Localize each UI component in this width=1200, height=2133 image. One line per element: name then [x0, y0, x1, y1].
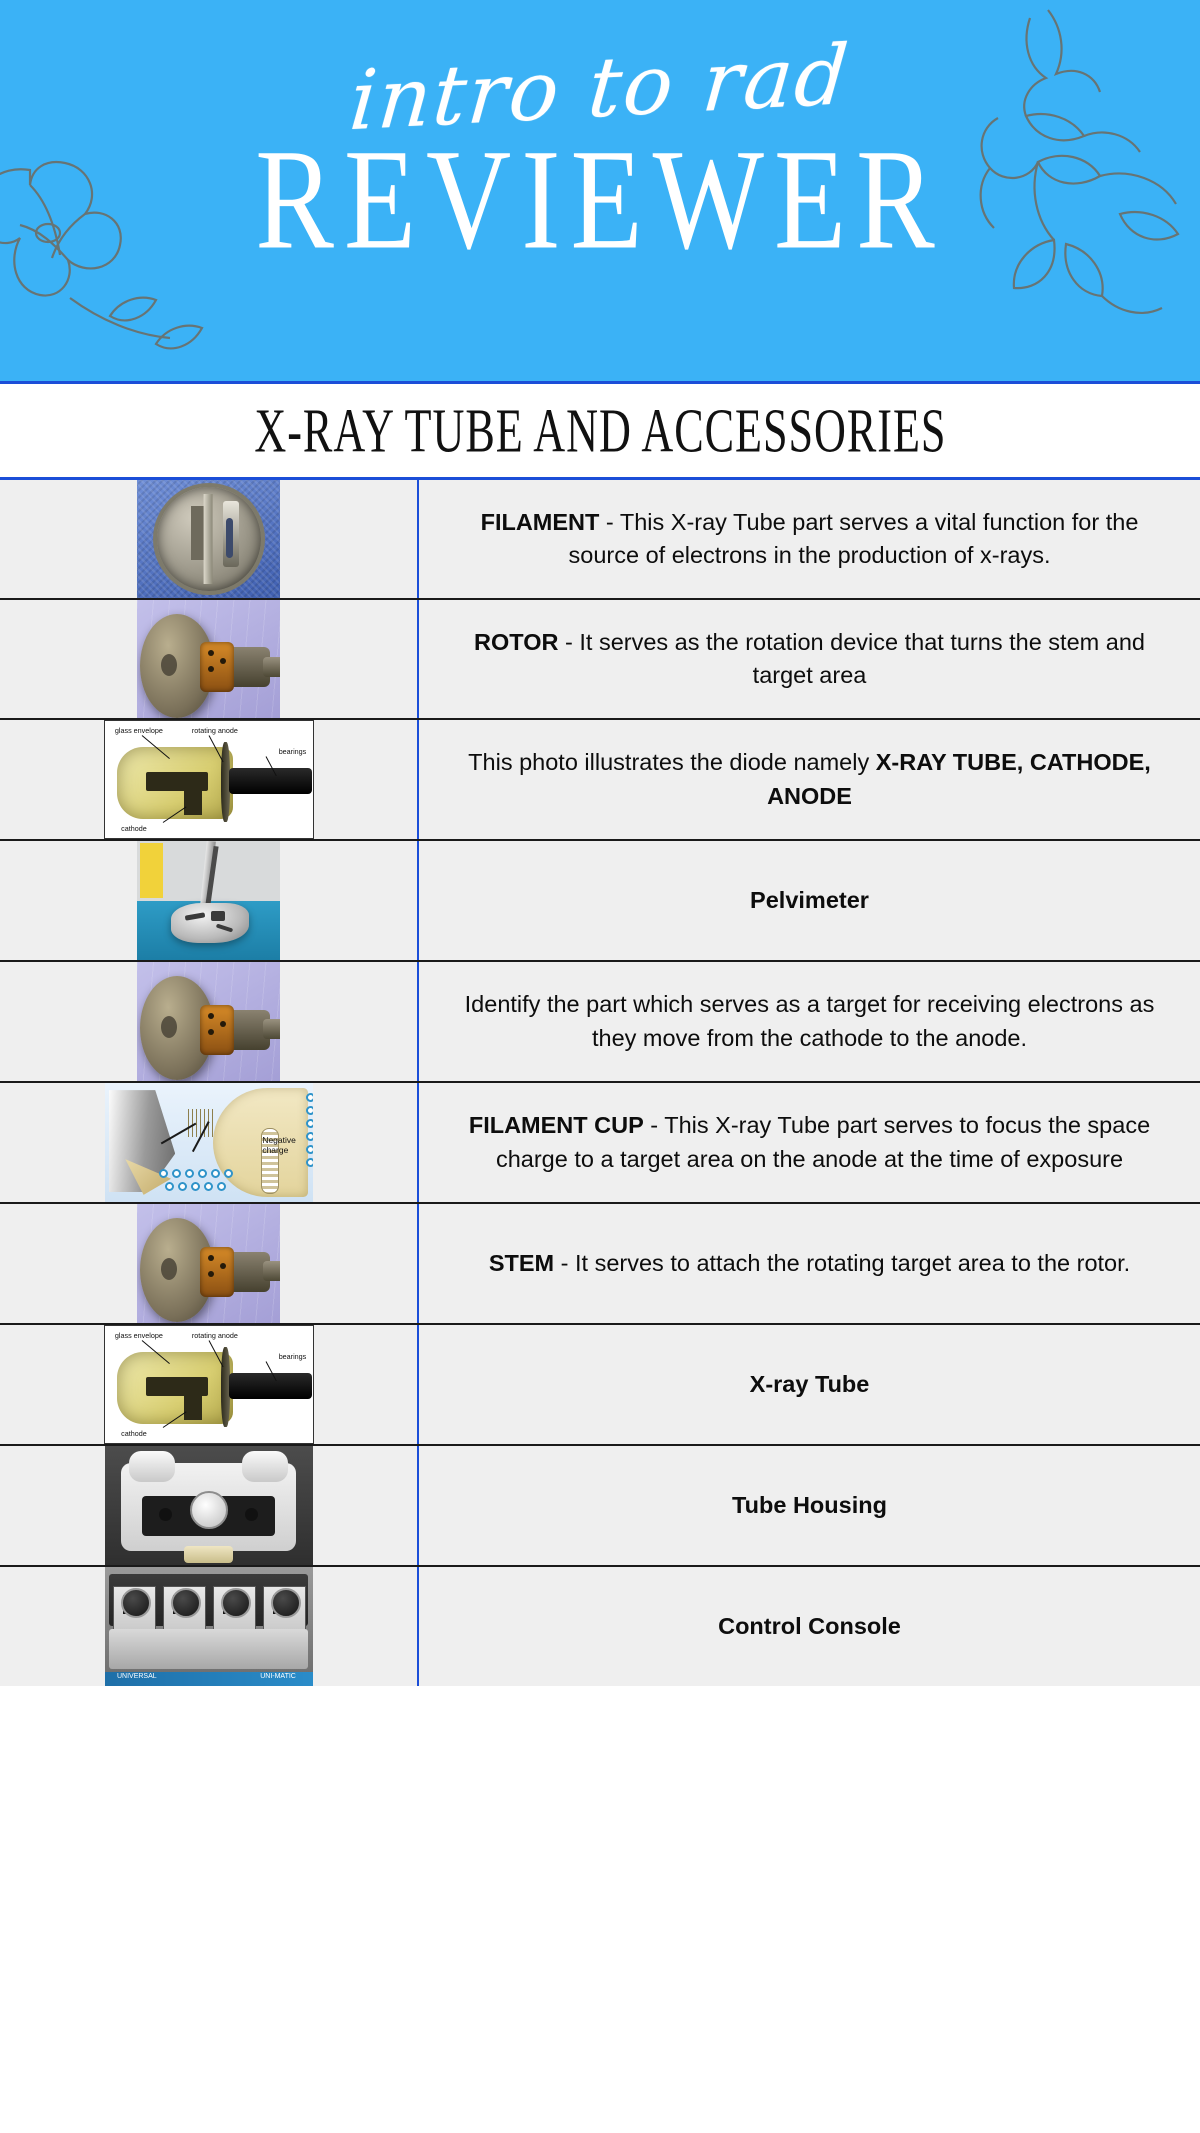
row-image-cell [0, 841, 419, 960]
row-text: X-ray Tube [750, 1368, 870, 1401]
row-text-cell: Identify the part which serves as a targ… [419, 962, 1200, 1081]
label-bearings: bearings [279, 747, 307, 756]
console-model-label: UNI-MATIC [260, 1673, 296, 1680]
row-image-cell [0, 1204, 419, 1323]
label-glass-envelope: glass envelope [115, 726, 163, 735]
subtitle-band: X-RAY TUBE AND ACCESSORIES [0, 384, 1200, 480]
table-row: STEM - It serves to attach the rotating … [0, 1204, 1200, 1325]
rotor-photo [137, 1204, 280, 1323]
row-text-cell: STEM - It serves to attach the rotating … [419, 1204, 1200, 1323]
label-bearings: bearings [279, 1352, 307, 1361]
reviewer-table: FILAMENT - This X-ray Tube part serves a… [0, 480, 1200, 1686]
pelvimeter-photo [137, 841, 280, 960]
row-text-cell: Pelvimeter [419, 841, 1200, 960]
table-row: UNIVERSAL UNI-MATIC Control Console [0, 1567, 1200, 1686]
xray-tube-diagram: glass envelope rotating anode bearings c… [104, 720, 314, 839]
filament-photo [137, 480, 280, 598]
row-text-cell: X-ray Tube [419, 1325, 1200, 1444]
row-image-cell [0, 1446, 419, 1565]
table-row: FILAMENT - This X-ray Tube part serves a… [0, 480, 1200, 600]
label-rotating-anode: rotating anode [192, 1331, 238, 1340]
row-image-cell [0, 962, 419, 1081]
row-image-cell [0, 480, 419, 598]
console-brand-label: UNIVERSAL [117, 1673, 157, 1680]
row-image-cell [0, 600, 419, 718]
row-text: FILAMENT - This X-ray Tube part serves a… [461, 506, 1158, 573]
row-text-cell: FILAMENT - This X-ray Tube part serves a… [419, 480, 1200, 598]
row-text: Identify the part which serves as a targ… [461, 988, 1158, 1055]
table-row: glass envelope rotating anode bearings c… [0, 720, 1200, 841]
row-text: Tube Housing [732, 1489, 887, 1522]
control-console-photo: UNIVERSAL UNI-MATIC [105, 1567, 313, 1686]
row-text: STEM - It serves to attach the rotating … [489, 1247, 1130, 1280]
table-row: Negativecharge FILAMENT CUP - This X-ray… [0, 1083, 1200, 1204]
row-image-cell: UNIVERSAL UNI-MATIC [0, 1567, 419, 1686]
page-title: REVIEWER [255, 134, 945, 266]
row-text-cell: This photo illustrates the diode namely … [419, 720, 1200, 839]
table-row: Pelvimeter [0, 841, 1200, 962]
row-text: Pelvimeter [750, 884, 869, 917]
row-text: ROTOR - It serves as the rotation device… [461, 626, 1158, 693]
row-image-cell: Negativecharge [0, 1083, 419, 1202]
row-text-cell: FILAMENT CUP - This X-ray Tube part serv… [419, 1083, 1200, 1202]
label-negative-charge: Negativecharge [262, 1135, 296, 1155]
label-rotating-anode: rotating anode [192, 726, 238, 735]
row-text-cell: ROTOR - It serves as the rotation device… [419, 600, 1200, 718]
label-glass-envelope: glass envelope [115, 1331, 163, 1340]
row-image-cell: glass envelope rotating anode bearings c… [0, 1325, 419, 1444]
label-cathode: cathode [121, 824, 147, 833]
table-row: glass envelope rotating anode bearings c… [0, 1325, 1200, 1446]
rotor-photo [137, 600, 280, 718]
table-row: Identify the part which serves as a targ… [0, 962, 1200, 1083]
row-text: FILAMENT CUP - This X-ray Tube part serv… [461, 1109, 1158, 1176]
row-text: This photo illustrates the diode namely … [461, 746, 1158, 813]
rotor-photo [137, 962, 280, 1081]
tube-housing-photo [105, 1446, 313, 1565]
row-text-cell: Tube Housing [419, 1446, 1200, 1565]
row-text-cell: Control Console [419, 1567, 1200, 1686]
xray-tube-diagram: glass envelope rotating anode bearings c… [104, 1325, 314, 1444]
reviewer-infographic: intro to rad REVIEWER X-RAY TUBE AND ACC… [0, 0, 1200, 1686]
header-banner: intro to rad REVIEWER [0, 0, 1200, 384]
table-row: ROTOR - It serves as the rotation device… [0, 600, 1200, 720]
row-image-cell: glass envelope rotating anode bearings c… [0, 720, 419, 839]
filament-cup-diagram: Negativecharge [105, 1083, 313, 1202]
row-text: Control Console [718, 1610, 901, 1643]
label-cathode: cathode [121, 1429, 147, 1438]
table-row: Tube Housing [0, 1446, 1200, 1567]
section-title: X-RAY TUBE AND ACCESSORIES [254, 395, 946, 467]
